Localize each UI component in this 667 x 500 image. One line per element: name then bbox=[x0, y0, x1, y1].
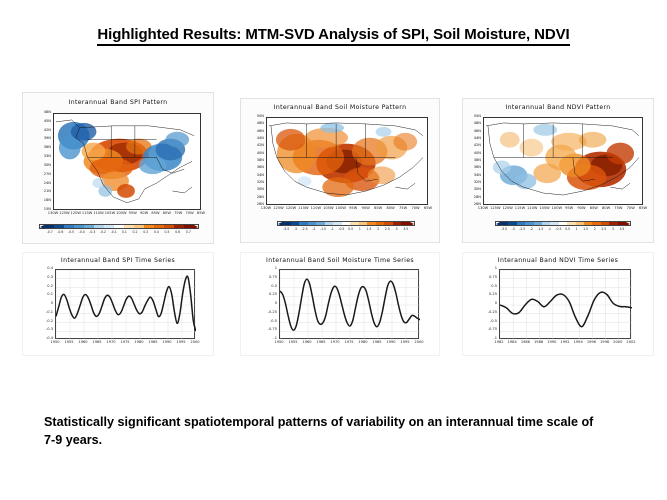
colorbar-tick-label: -0.5 bbox=[555, 227, 561, 231]
colorbar-labels-soil-moisture: -3.5-3-2.5-2-1.5-1-0.50.511.522.533.5 bbox=[277, 227, 415, 233]
timeseries-xtick-label: 1990 bbox=[547, 341, 556, 345]
map-xtick-label: 80W bbox=[163, 212, 171, 216]
map-ytick-label: 44N bbox=[470, 137, 481, 141]
map-xtick-label: 100W bbox=[552, 207, 562, 211]
timeseries-xtick-label: 1965 bbox=[92, 341, 101, 345]
map-ytick-label: 48N bbox=[253, 123, 264, 127]
colorbar-segment bbox=[567, 222, 575, 225]
colorbar-tick-label: 0.7 bbox=[186, 230, 191, 234]
colorbar-segment bbox=[308, 222, 317, 225]
slide-caption: Statistically significant spatiotemporal… bbox=[44, 413, 604, 450]
colorbar-segment bbox=[54, 225, 64, 228]
map-ytick-label: 50N bbox=[470, 115, 481, 119]
colorbar-tick-label: 2 bbox=[377, 227, 379, 231]
map-plot-spi bbox=[53, 113, 201, 210]
colorbar-tick-label: 0.6 bbox=[175, 230, 180, 234]
map-title-spi: Interannual Band SPI Pattern bbox=[23, 99, 213, 106]
timeseries-ytick-label: 0.3 bbox=[41, 276, 53, 280]
map-ytick-label: 38N bbox=[470, 159, 481, 163]
timeseries-xtick-label: 1998 bbox=[600, 341, 609, 345]
timeseries-xtick-label: 1950 bbox=[50, 341, 59, 345]
colorbar-segment bbox=[282, 222, 291, 225]
colorbar-tick-label: -2 bbox=[312, 227, 315, 231]
timeseries-ytick-label: 0.5 bbox=[485, 285, 497, 289]
map-xtick-label: 75W bbox=[174, 212, 182, 216]
timeseries-ytick-label: -0.75 bbox=[265, 328, 277, 332]
timeseries-ytick-label: -0.2 bbox=[41, 320, 53, 324]
map-xtick-label: 80W bbox=[387, 207, 395, 211]
colorbar-tick-label: 3.5 bbox=[403, 227, 408, 231]
map-ytick-label: 39N bbox=[40, 138, 51, 142]
colorbar-segment bbox=[74, 225, 84, 228]
map-title-ndvi: Interannual Band NDVI Pattern bbox=[463, 104, 653, 111]
colorbar-segment bbox=[576, 222, 584, 225]
map-panel-ndvi: Interannual Band NDVI Pattern bbox=[462, 98, 654, 243]
colorbar-tick-label: 2.5 bbox=[601, 227, 606, 231]
map-xtick-label: 70W bbox=[627, 207, 635, 211]
colorbar-soil-moisture: -3.5-3-2.5-2-1.5-1-0.50.511.522.533.5 bbox=[277, 221, 415, 233]
map-xtick-label: 105W bbox=[323, 207, 333, 211]
timeseries-ytick-label: 0 bbox=[41, 302, 53, 306]
map-ytick-label: 46N bbox=[470, 130, 481, 134]
timeseries-gridlines bbox=[500, 270, 632, 340]
colorbar-segment bbox=[517, 222, 525, 225]
map-ytick-label: 32N bbox=[470, 181, 481, 185]
map-xtick-label: 90W bbox=[140, 212, 148, 216]
timeseries-panel-soil-moisture: Interannual Band Soil Moisture Time Seri… bbox=[240, 252, 440, 356]
colorbar-tick-label: -1 bbox=[331, 227, 334, 231]
map-ytick-label: 50N bbox=[253, 115, 264, 119]
timeseries-xtick-label: 1988 bbox=[534, 341, 543, 345]
colorbar-segment bbox=[584, 222, 592, 225]
colorbar-tick-label: -3.5 bbox=[501, 227, 507, 231]
timeseries-title-ndvi: Interannual Band NDVI Time Series bbox=[463, 257, 653, 264]
timeseries-xtick-label: 2002 bbox=[626, 341, 635, 345]
map-xtick-label: 95W bbox=[349, 207, 357, 211]
colorbar-tick-label: -3.5 bbox=[283, 227, 289, 231]
map-raster-spi bbox=[54, 114, 200, 210]
colorbar-gradient-spi bbox=[39, 224, 199, 229]
timeseries-ytick-label: -0.5 bbox=[265, 320, 277, 324]
timeseries-ytick-label: 0 bbox=[485, 302, 497, 306]
timeseries-xtick-label: 1985 bbox=[372, 341, 381, 345]
map-ytick-label: 40N bbox=[470, 152, 481, 156]
colorbar-segment bbox=[384, 222, 393, 225]
timeseries-xtick-label: 1960 bbox=[302, 341, 311, 345]
timeseries-svg bbox=[500, 270, 632, 340]
colorbar-segment bbox=[299, 222, 308, 225]
map-raster-ndvi bbox=[484, 118, 642, 205]
timeseries-xtick-label: 1955 bbox=[64, 341, 73, 345]
colorbar-tick-label: -0.4 bbox=[79, 230, 85, 234]
map-xtick-label: 130W bbox=[478, 207, 488, 211]
map-xtick-label: 90W bbox=[577, 207, 585, 211]
colorbar-tick-label: -0.2 bbox=[100, 230, 106, 234]
map-xtick-label: 85W bbox=[590, 207, 598, 211]
map-ytick-label: 36N bbox=[470, 167, 481, 171]
map-ytick-label: 48N bbox=[470, 123, 481, 127]
colorbar-segment bbox=[104, 225, 114, 228]
map-xtick-label: 100W bbox=[116, 212, 126, 216]
map-xtick-label: 85W bbox=[374, 207, 382, 211]
colorbar-segment bbox=[609, 222, 617, 225]
colorbar-tick-label: 3 bbox=[396, 227, 398, 231]
colorbar-tick-label: -2 bbox=[530, 227, 533, 231]
timeseries-xtick-label: 2000 bbox=[414, 341, 423, 345]
colorbar-segment bbox=[325, 222, 334, 225]
timeseries-plot-ndvi bbox=[499, 269, 631, 339]
map-xtick-label: 65W bbox=[197, 212, 205, 216]
colorbar-tick-label: 2 bbox=[594, 227, 596, 231]
map-ytick-label: 34N bbox=[470, 174, 481, 178]
timeseries-xtick-label: 2000 bbox=[613, 341, 622, 345]
colorbar-tick-label: 0.5 bbox=[348, 227, 353, 231]
map-xtick-label: 120W bbox=[286, 207, 296, 211]
map-xtick-label: 65W bbox=[639, 207, 647, 211]
map-raster-soil-moisture bbox=[267, 118, 427, 205]
colorbar-segment bbox=[592, 222, 600, 225]
timeseries-ytick-label: -0.25 bbox=[485, 311, 497, 315]
map-xtick-label: 110W bbox=[311, 207, 321, 211]
timeseries-ytick-label: 0.25 bbox=[485, 293, 497, 297]
colorbar-tick-label: -1 bbox=[548, 227, 551, 231]
map-ytick-label: 18N bbox=[40, 199, 51, 203]
map-xtick-label: 90W bbox=[362, 207, 370, 211]
timeseries-xtick-label: 1984 bbox=[508, 341, 517, 345]
colorbar-tick-label: 1 bbox=[359, 227, 361, 231]
timeseries-xtick-label: 1990 bbox=[162, 341, 171, 345]
timeseries-ytick-label: 1 bbox=[485, 267, 497, 271]
timeseries-xtick-label: 1975 bbox=[344, 341, 353, 345]
timeseries-xtick-label: 1970 bbox=[106, 341, 115, 345]
timeseries-gridlines bbox=[56, 270, 196, 340]
colorbar-segment bbox=[393, 222, 402, 225]
timeseries-xtick-label: 1995 bbox=[176, 341, 185, 345]
map-ytick-label: 27N bbox=[40, 173, 51, 177]
timeseries-xtick-label: 1994 bbox=[574, 341, 583, 345]
colorbar-tick-label: -2.5 bbox=[519, 227, 525, 231]
timeseries-ytick-label: -0.25 bbox=[265, 311, 277, 315]
timeseries-xtick-label: 1950 bbox=[274, 341, 283, 345]
timeseries-ytick-label: 0.1 bbox=[41, 293, 53, 297]
colorbar-tick-label: 0.2 bbox=[133, 230, 138, 234]
colorbar-gradient-soil-moisture bbox=[277, 221, 415, 226]
colorbar-tick-label: 1.5 bbox=[583, 227, 588, 231]
timeseries-ytick-label: 0.75 bbox=[265, 276, 277, 280]
colorbar-tick-label: -1.5 bbox=[537, 227, 543, 231]
colorbar-tick-label: -3 bbox=[512, 227, 515, 231]
timeseries-xtick-label: 1995 bbox=[400, 341, 409, 345]
colorbar-labels-spi: -0.7-0.6-0.5-0.4-0.3-0.2-0.10.10.20.30.4… bbox=[39, 230, 199, 236]
colorbar-max-arrow bbox=[410, 222, 414, 226]
map-xtick-label: 125W bbox=[273, 207, 283, 211]
map-ytick-label: 21N bbox=[40, 191, 51, 195]
map-ytick-label: 46N bbox=[253, 130, 264, 134]
colorbar-max-arrow bbox=[194, 225, 198, 229]
map-xtick-label: 120W bbox=[502, 207, 512, 211]
timeseries-xtick-label: 1992 bbox=[560, 341, 569, 345]
map-ytick-label: 32N bbox=[253, 181, 264, 185]
map-ytick-label: 24N bbox=[40, 182, 51, 186]
map-panel-spi: Interannual Band SPI Pattern bbox=[22, 92, 214, 244]
timeseries-xtick-label: 1986 bbox=[521, 341, 530, 345]
timeseries-ytick-label: 0.2 bbox=[41, 285, 53, 289]
timeseries-xtick-label: 1955 bbox=[288, 341, 297, 345]
map-xtick-label: 75W bbox=[614, 207, 622, 211]
colorbar-tick-label: -0.1 bbox=[111, 230, 117, 234]
colorbar-tick-label: -2.5 bbox=[302, 227, 308, 231]
map-xtick-label: 100W bbox=[336, 207, 346, 211]
colorbar-segment bbox=[291, 222, 300, 225]
map-xtick-label: 120W bbox=[71, 212, 81, 216]
colorbar-tick-label: -3 bbox=[294, 227, 297, 231]
timeseries-ytick-label: 1 bbox=[265, 267, 277, 271]
colorbar-tick-label: 0.5 bbox=[165, 230, 170, 234]
colorbar-segment bbox=[534, 222, 542, 225]
timeseries-ytick-label: 0.25 bbox=[265, 293, 277, 297]
page-title: Highlighted Results: MTM-SVD Analysis of… bbox=[0, 26, 667, 43]
colorbar-tick-label: -0.3 bbox=[89, 230, 95, 234]
colorbar-segment bbox=[359, 222, 368, 225]
map-panel-soil-moisture: Interannual Band Soil Moisture Pattern bbox=[240, 98, 440, 243]
map-ytick-label: 36N bbox=[40, 146, 51, 150]
map-xtick-label: 125W bbox=[490, 207, 500, 211]
timeseries-xtick-label: 1980 bbox=[134, 341, 143, 345]
colorbar-segment bbox=[316, 222, 325, 225]
colorbar-spi: -0.7-0.6-0.5-0.4-0.3-0.2-0.10.10.20.30.4… bbox=[39, 224, 199, 236]
map-ytick-label: 30N bbox=[470, 189, 481, 193]
colorbar-segment bbox=[559, 222, 567, 225]
colorbar-segment bbox=[508, 222, 516, 225]
colorbar-segment bbox=[342, 222, 351, 225]
map-xtick-label: 75W bbox=[399, 207, 407, 211]
timeseries-svg bbox=[56, 270, 196, 340]
map-ytick-label: 36N bbox=[253, 167, 264, 171]
colorbar-tick-label: 2.5 bbox=[385, 227, 390, 231]
map-xtick-label: 85W bbox=[151, 212, 159, 216]
map-xtick-label: 125W bbox=[59, 212, 69, 216]
timeseries-ytick-label: 0.5 bbox=[265, 285, 277, 289]
colorbar-segment bbox=[367, 222, 376, 225]
colorbar-segment bbox=[333, 222, 342, 225]
colorbar-segment bbox=[64, 225, 74, 228]
map-xtick-label: 115W bbox=[515, 207, 525, 211]
colorbar-segment bbox=[134, 225, 144, 228]
map-xtick-label: 130W bbox=[48, 212, 58, 216]
timeseries-xtick-label: 1960 bbox=[78, 341, 87, 345]
timeseries-ytick-label: 0.75 bbox=[485, 276, 497, 280]
timeseries-xtick-label: 1990 bbox=[386, 341, 395, 345]
timeseries-ytick-label: -0.75 bbox=[485, 328, 497, 332]
colorbar-segment bbox=[44, 225, 54, 228]
map-plot-ndvi bbox=[483, 117, 643, 205]
map-xtick-label: 65W bbox=[424, 207, 432, 211]
colorbar-segment bbox=[601, 222, 609, 225]
map-ytick-label: 44N bbox=[253, 137, 264, 141]
colorbar-max-arrow bbox=[626, 222, 630, 226]
timeseries-xtick-label: 1965 bbox=[316, 341, 325, 345]
map-ytick-label: 30N bbox=[253, 189, 264, 193]
timeseries-xtick-label: 1970 bbox=[330, 341, 339, 345]
timeseries-xtick-label: 2000 bbox=[190, 341, 199, 345]
colorbar-gradient-ndvi bbox=[495, 221, 631, 226]
colorbar-segment bbox=[184, 225, 194, 228]
map-ytick-label: 45N bbox=[40, 120, 51, 124]
map-ytick-label: 42N bbox=[253, 145, 264, 149]
map-xtick-label: 95W bbox=[129, 212, 137, 216]
map-plot-soil-moisture bbox=[266, 117, 428, 205]
colorbar-segment bbox=[500, 222, 508, 225]
timeseries-panel-ndvi: Interannual Band NDVI Time Series 10.750… bbox=[462, 252, 654, 356]
timeseries-plot-soil-moisture bbox=[279, 269, 419, 339]
colorbar-segment bbox=[124, 225, 134, 228]
colorbar-tick-label: 0.1 bbox=[122, 230, 127, 234]
map-ytick-label: 42N bbox=[40, 129, 51, 133]
timeseries-plot-spi bbox=[55, 269, 195, 339]
map-xtick-label: 130W bbox=[261, 207, 271, 211]
colorbar-labels-ndvi: -3.5-3-2.5-2-1.5-1-0.50.511.522.533.5 bbox=[495, 227, 631, 233]
map-xtick-label: 95W bbox=[565, 207, 573, 211]
colorbar-segment bbox=[144, 225, 154, 228]
colorbar-ndvi: -3.5-3-2.5-2-1.5-1-0.50.511.522.533.5 bbox=[495, 221, 631, 233]
colorbar-segment bbox=[164, 225, 174, 228]
map-ytick-label: 48N bbox=[40, 111, 51, 115]
timeseries-xtick-label: 1996 bbox=[587, 341, 596, 345]
timeseries-xtick-label: 1985 bbox=[148, 341, 157, 345]
map-ytick-label: 30N bbox=[40, 164, 51, 168]
timeseries-xtick-label: 1980 bbox=[358, 341, 367, 345]
timeseries-ytick-label: -0.5 bbox=[485, 320, 497, 324]
colorbar-segment bbox=[525, 222, 533, 225]
colorbar-segment bbox=[542, 222, 550, 225]
colorbar-tick-label: -0.5 bbox=[338, 227, 344, 231]
colorbar-segment bbox=[154, 225, 164, 228]
colorbar-tick-label: 1 bbox=[576, 227, 578, 231]
colorbar-tick-label: -0.6 bbox=[57, 230, 63, 234]
colorbar-segment bbox=[84, 225, 94, 228]
map-ytick-label: 34N bbox=[253, 174, 264, 178]
map-ytick-label: 38N bbox=[253, 159, 264, 163]
timeseries-xtick-label: 1975 bbox=[120, 341, 129, 345]
timeseries-ytick-label: 0.4 bbox=[41, 267, 53, 271]
map-xtick-label: 110W bbox=[93, 212, 103, 216]
map-xtick-label: 70W bbox=[186, 212, 194, 216]
colorbar-segment bbox=[350, 222, 359, 225]
timeseries-panel-spi: Interannual Band SPI Time Series 0.40.30… bbox=[22, 252, 214, 356]
map-xtick-label: 70W bbox=[411, 207, 419, 211]
colorbar-tick-label: 0.4 bbox=[154, 230, 159, 234]
map-xtick-label: 105W bbox=[539, 207, 549, 211]
colorbar-segment bbox=[550, 222, 558, 225]
colorbar-segment bbox=[618, 222, 626, 225]
colorbar-segment bbox=[401, 222, 410, 225]
colorbar-tick-label: -1.5 bbox=[320, 227, 326, 231]
map-title-soil-moisture: Interannual Band Soil Moisture Pattern bbox=[241, 104, 439, 111]
colorbar-segment bbox=[94, 225, 104, 228]
page-title-text: Highlighted Results: MTM-SVD Analysis of… bbox=[97, 26, 569, 46]
map-ytick-label: 28N bbox=[470, 196, 481, 200]
colorbar-tick-label: 0.5 bbox=[565, 227, 570, 231]
timeseries-ytick-label: -0.3 bbox=[41, 328, 53, 332]
map-xtick-label: 115W bbox=[82, 212, 92, 216]
colorbar-segment bbox=[376, 222, 385, 225]
timeseries-ytick-label: -0.1 bbox=[41, 311, 53, 315]
timeseries-xtick-label: 1982 bbox=[494, 341, 503, 345]
map-xtick-label: 80W bbox=[602, 207, 610, 211]
map-ytick-label: 40N bbox=[253, 152, 264, 156]
colorbar-tick-label: 3.5 bbox=[619, 227, 624, 231]
map-ytick-label: 33N bbox=[40, 155, 51, 159]
colorbar-tick-label: -0.5 bbox=[68, 230, 74, 234]
timeseries-ytick-label: 0 bbox=[265, 302, 277, 306]
colorbar-segment bbox=[114, 225, 124, 228]
colorbar-tick-label: -0.7 bbox=[47, 230, 53, 234]
timeseries-title-soil-moisture: Interannual Band Soil Moisture Time Seri… bbox=[241, 257, 439, 264]
map-xtick-label: 105W bbox=[105, 212, 115, 216]
colorbar-tick-label: 0.3 bbox=[143, 230, 148, 234]
map-ytick-label: 42N bbox=[470, 145, 481, 149]
colorbar-segment bbox=[174, 225, 184, 228]
map-ytick-label: 28N bbox=[253, 196, 264, 200]
colorbar-tick-label: 1.5 bbox=[367, 227, 372, 231]
map-xtick-label: 115W bbox=[298, 207, 308, 211]
colorbar-tick-label: 3 bbox=[612, 227, 614, 231]
timeseries-svg bbox=[280, 270, 420, 340]
map-xtick-label: 110W bbox=[527, 207, 537, 211]
timeseries-title-spi: Interannual Band SPI Time Series bbox=[23, 257, 213, 264]
